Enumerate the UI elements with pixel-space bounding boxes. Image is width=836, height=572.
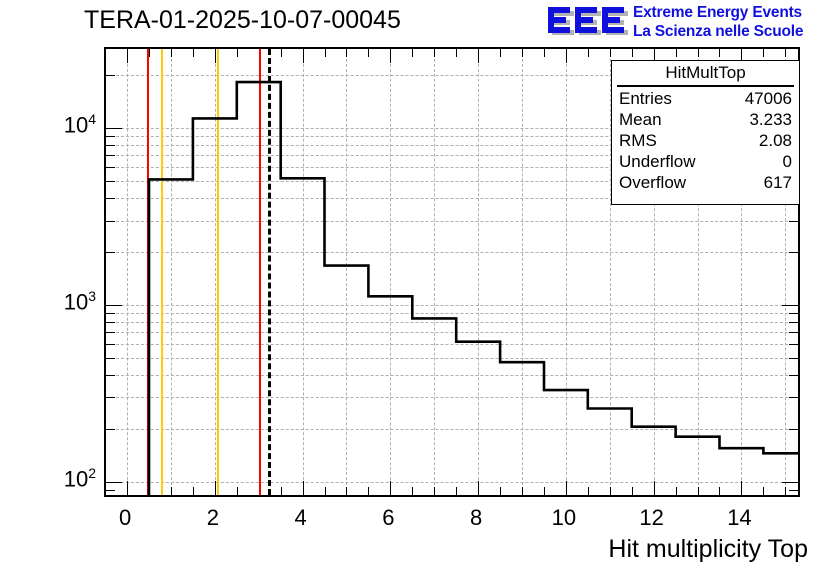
- histogram-canvas: TERA-01-2025-10-07-00045 Extreme Energy …: [0, 0, 836, 572]
- x-tick-label: 0: [119, 505, 131, 531]
- stats-row-value: 2.08: [759, 130, 792, 151]
- stats-row-label: Mean: [619, 109, 662, 130]
- stats-title: HitMultTop: [617, 61, 794, 87]
- y-tick-label: 102: [42, 465, 96, 492]
- stats-row-label: Entries: [619, 88, 672, 109]
- stats-row-value: 47006: [745, 88, 792, 109]
- eee-logo-line1: Extreme Energy Events: [633, 3, 803, 22]
- stats-row: Entries47006: [612, 88, 799, 109]
- stats-rows: Entries47006Mean3.233RMS2.08Underflow0Ov…: [612, 88, 799, 193]
- eee-logo-line2: La Scienza nelle Scuole: [633, 22, 803, 41]
- stats-row-value: 617: [764, 172, 792, 193]
- y-tick-label: 104: [42, 111, 96, 138]
- stats-row-value: 3.233: [749, 109, 792, 130]
- stats-box: HitMultTop Entries47006Mean3.233RMS2.08U…: [611, 60, 800, 205]
- x-tick-label: 14: [727, 505, 751, 531]
- stats-row: Mean3.233: [612, 109, 799, 130]
- eee-mark-icon: [545, 4, 630, 40]
- stats-row-label: Underflow: [619, 151, 696, 172]
- x-tick-label: 12: [639, 505, 663, 531]
- x-tick-label: 2: [207, 505, 219, 531]
- x-tick-label: 8: [470, 505, 482, 531]
- stats-row-value: 0: [783, 151, 792, 172]
- y-tick-label: 103: [42, 288, 96, 315]
- x-axis-title: Hit multiplicity Top: [608, 535, 808, 564]
- stats-row: Underflow0: [612, 151, 799, 172]
- x-tick-label: 4: [294, 505, 306, 531]
- eee-logo: Extreme Energy Events La Scienza nelle S…: [545, 2, 835, 44]
- stats-row: Overflow617: [612, 172, 799, 193]
- stats-row: RMS2.08: [612, 130, 799, 151]
- x-tick-label: 10: [552, 505, 576, 531]
- stats-row-label: Overflow: [619, 172, 686, 193]
- eee-logo-text: Extreme Energy Events La Scienza nelle S…: [633, 3, 803, 41]
- page-title: TERA-01-2025-10-07-00045: [84, 6, 401, 35]
- x-tick-label: 6: [382, 505, 394, 531]
- stats-row-label: RMS: [619, 130, 657, 151]
